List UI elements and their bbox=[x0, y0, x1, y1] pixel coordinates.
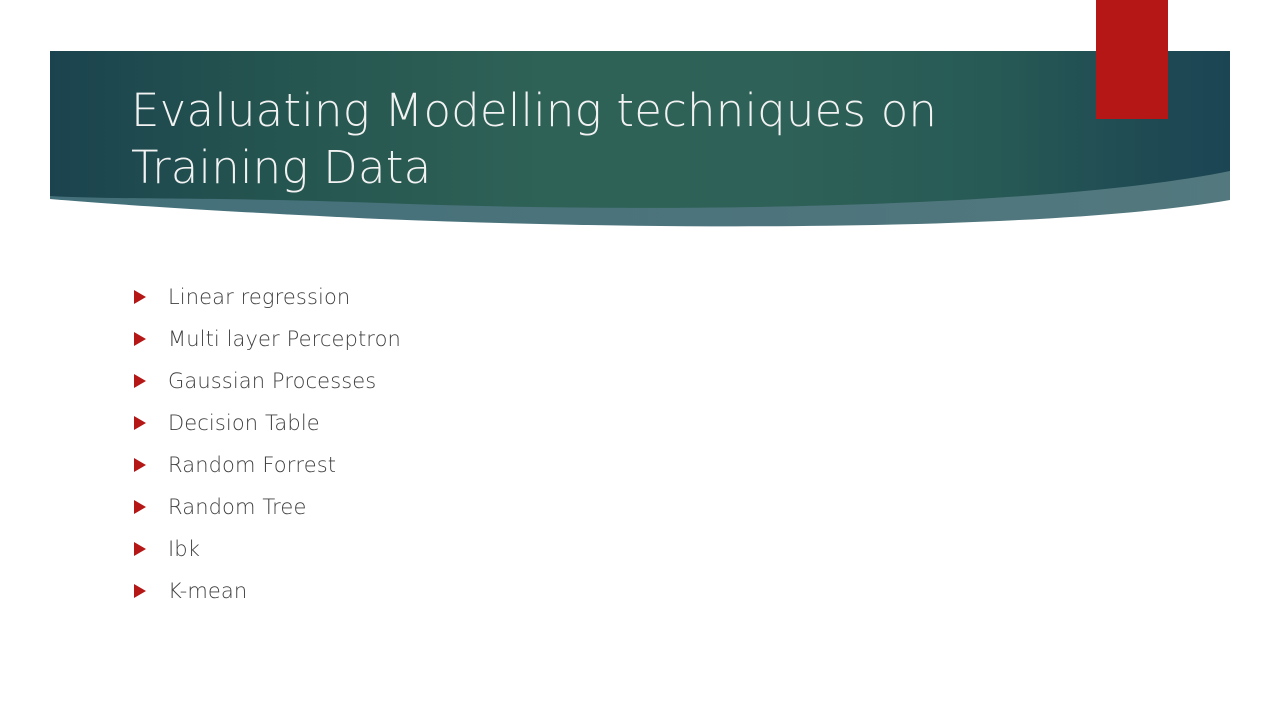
list-item-label: Decision Table bbox=[168, 410, 320, 436]
list-item: Ibk bbox=[131, 528, 1131, 570]
list-item: Multi layer Perceptron bbox=[131, 318, 1131, 360]
list-item-label: Multi layer Perceptron bbox=[168, 326, 401, 352]
list-item-label: K-mean bbox=[168, 578, 247, 604]
accent-bar bbox=[1096, 0, 1168, 119]
triangle-bullet-icon bbox=[134, 500, 146, 514]
triangle-bullet-icon bbox=[134, 374, 146, 388]
bullet-list: Linear regression Multi layer Perceptron… bbox=[131, 276, 1131, 612]
triangle-bullet-icon bbox=[134, 416, 146, 430]
list-item: Random Forrest bbox=[131, 444, 1131, 486]
list-item-label: Ibk bbox=[168, 536, 200, 562]
triangle-bullet-icon bbox=[134, 332, 146, 346]
list-item-label: Random Forrest bbox=[168, 452, 336, 478]
title-line-2: Training Data bbox=[131, 139, 1071, 196]
title-line-1: Evaluating Modelling techniques on bbox=[131, 82, 1071, 139]
list-item: Linear regression bbox=[131, 276, 1131, 318]
list-item: K-mean bbox=[131, 570, 1131, 612]
triangle-bullet-icon bbox=[134, 290, 146, 304]
presentation-slide: Evaluating Modelling techniques on Train… bbox=[0, 0, 1280, 720]
list-item-label: Linear regression bbox=[168, 284, 350, 310]
list-item-label: Random Tree bbox=[168, 494, 306, 520]
list-item-label: Gaussian Processes bbox=[168, 368, 376, 394]
triangle-bullet-icon bbox=[134, 584, 146, 598]
list-item: Gaussian Processes bbox=[131, 360, 1131, 402]
triangle-bullet-icon bbox=[134, 458, 146, 472]
list-item: Decision Table bbox=[131, 402, 1131, 444]
list-item: Random Tree bbox=[131, 486, 1131, 528]
triangle-bullet-icon bbox=[134, 542, 146, 556]
page-title: Evaluating Modelling techniques on Train… bbox=[131, 82, 1071, 196]
